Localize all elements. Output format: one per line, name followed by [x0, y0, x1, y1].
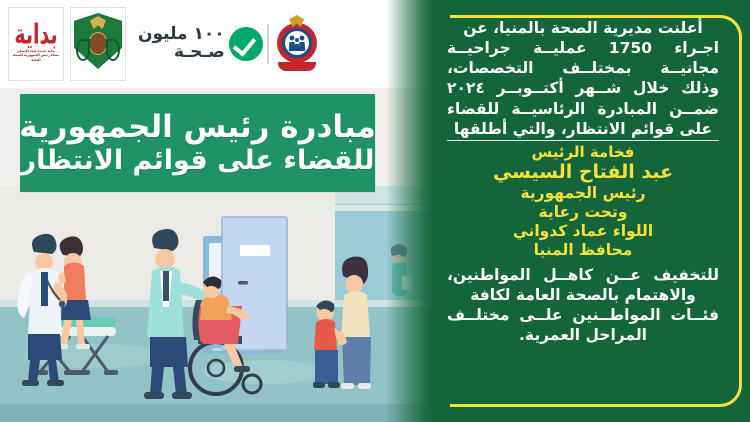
- word: للقضاء: [447, 99, 499, 119]
- bedaya-calligraphy: بداية: [14, 22, 57, 48]
- word: علــى: [519, 305, 562, 325]
- word: التخصصات،: [447, 58, 533, 78]
- presidency-emblem: [70, 7, 126, 81]
- word: فئــات: [671, 305, 719, 325]
- president-honorific: فخامة الرئيس: [532, 143, 635, 161]
- scene-fade-overlay: [386, 0, 436, 422]
- word: خلال: [633, 78, 669, 98]
- word: المواطنين،: [447, 265, 531, 285]
- word: شــهر: [575, 78, 621, 98]
- hundred-million-line-2: صـحـة: [138, 44, 225, 62]
- governor-title: محافظ المنيا: [534, 241, 633, 260]
- word: للتخفيف: [653, 265, 719, 285]
- word: الرئاسيــة: [511, 99, 585, 119]
- banner-line-2: للقضاء على قوائم الانتظار: [21, 145, 375, 177]
- announcement-line: اجـراء 1750 عمليــة جراحيــة: [447, 38, 719, 58]
- word: عمليــة: [533, 38, 587, 58]
- word: اجـراء: [674, 38, 719, 58]
- word: ٢٠٢٤: [447, 78, 485, 98]
- governor-name: اللواء عماد كدواني: [513, 222, 653, 241]
- family-icon: [288, 34, 306, 52]
- announcement-line: ضمــن المبادرة الرئاسيــة للقضاء: [447, 99, 719, 119]
- check-circle-icon: [229, 27, 263, 61]
- announcement-line: مجانيــة بمختلــف التخصصات،: [447, 58, 719, 78]
- ministry-of-health-emblem: [275, 15, 319, 73]
- wreath-right-icon: [106, 39, 120, 61]
- banner-line-1: مبادرة رئيس الجمهورية: [19, 109, 376, 146]
- word: بمختلــف: [562, 58, 631, 78]
- word: كاهــل: [543, 265, 593, 285]
- announcement-line: للتخفيف عــن كاهــل المواطنين،: [447, 265, 719, 285]
- word: المواطــنين: [572, 305, 660, 325]
- hundred-million-health-logo: ١٠٠ مليون صـحـة: [138, 7, 319, 81]
- announcement-panel: أعلنت مديرية الصحة بالمنيا، عن اجـراء 17…: [432, 0, 750, 422]
- president-title: رئيس الجمهورية: [520, 184, 645, 203]
- word: مختلــف: [447, 305, 509, 325]
- page-title: مبادرة رئيس الجمهورية للقضاء على قوائم ا…: [20, 94, 375, 192]
- moh-ribbon: [278, 62, 316, 71]
- word: مجانيــة: [660, 58, 719, 78]
- announcement-line: والاهتمام بالصحة العامة لكافة: [447, 285, 719, 305]
- word: المبادرة: [597, 99, 657, 119]
- left-illustration-panel: مبادرة رئيس الجمهورية للقضاء على قوائم ا…: [0, 0, 440, 422]
- wreath-left-icon: [76, 39, 90, 61]
- word: 1750: [609, 38, 652, 58]
- announcement-line-underlined: على قوائم الانتظار، والتي أطلقها: [447, 119, 719, 141]
- patronage-label: وتحت رعاية: [539, 203, 628, 222]
- announcement-text: أعلنت مديرية الصحة بالمنيا، عن اجـراء 17…: [440, 18, 726, 418]
- emblem-portrait: [89, 32, 108, 55]
- logo-divider: [267, 24, 269, 64]
- bedaya-subtitle-line-2: مشاة رئيس الجمهورية للصحة العامة: [11, 53, 61, 62]
- word: عــن: [606, 265, 641, 285]
- announcement-line: أعلنت مديرية الصحة بالمنيا، عن: [447, 18, 719, 38]
- word: أكتــوبــر: [497, 78, 564, 98]
- announcement-line: فئــات المواطــنين علــى مختلــف: [447, 305, 719, 325]
- announcement-line: وذلك خلال شــهر أكتــوبــر ٢٠٢٤: [447, 78, 719, 98]
- bedaya-logo: بداية بداية جديدة لبناء الإنسان مشاة رئي…: [8, 7, 64, 81]
- word: جراحيــة: [447, 38, 511, 58]
- poster-root: مبادرة رئيس الجمهورية للقضاء على قوائم ا…: [0, 0, 750, 422]
- word: وذلك: [681, 78, 719, 98]
- word: ضمــن: [669, 99, 719, 119]
- logo-strip: بداية بداية جديدة لبناء الإنسان مشاة رئي…: [0, 0, 440, 88]
- announcement-line: المراحل العمرية.: [447, 325, 719, 345]
- president-name: عبد الفتاح السيسي: [493, 161, 673, 184]
